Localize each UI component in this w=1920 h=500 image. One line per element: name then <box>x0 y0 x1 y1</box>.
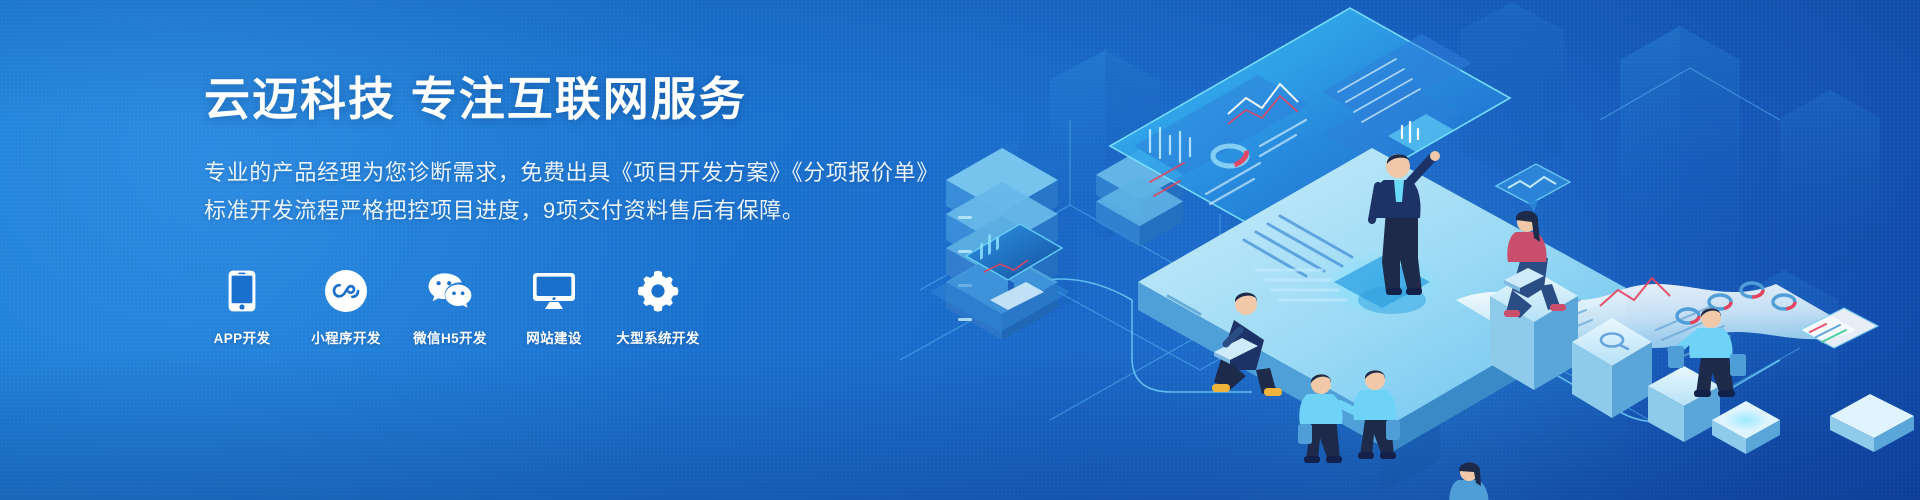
service-item-large-system[interactable]: 大型系统开发 <box>620 268 696 347</box>
mini-program-icon <box>323 268 369 314</box>
banner-subtitle: 专业的产品经理为您诊断需求，免费出具《项目开发方案》《分项报价单》 标准开发流程… <box>204 154 964 230</box>
wechat-icon <box>427 268 473 314</box>
service-label-wechat: 微信H5开发 <box>413 327 487 347</box>
service-list: APP开发 小程序开发 <box>204 268 964 347</box>
gear-icon <box>635 268 681 314</box>
subtitle-line-1: 专业的产品经理为您诊断需求，免费出具《项目开发方案》《分项报价单》 <box>204 154 964 192</box>
mobile-phone-icon <box>219 268 265 314</box>
service-item-website[interactable]: 网站建设 <box>516 268 592 347</box>
monitor-icon <box>531 268 577 314</box>
subtitle-line-2: 标准开发流程严格把控项目进度，9项交付资料售后有保障。 <box>204 192 964 230</box>
page-title: 云迈科技 专注互联网服务 <box>204 72 964 126</box>
service-item-wechat[interactable]: 微信H5开发 <box>412 268 488 347</box>
isometric-illustration <box>900 0 1920 500</box>
service-label-website: 网站建设 <box>526 327 582 347</box>
banner-content: 云迈科技 专注互联网服务 专业的产品经理为您诊断需求，免费出具《项目开发方案》《… <box>204 72 964 347</box>
service-label-app: APP开发 <box>214 327 271 347</box>
service-label-mini-program: 小程序开发 <box>311 327 381 347</box>
service-item-mini-program[interactable]: 小程序开发 <box>308 268 384 347</box>
hero-banner: 云迈科技 专注互联网服务 专业的产品经理为您诊断需求，免费出具《项目开发方案》《… <box>0 0 1920 500</box>
service-item-app[interactable]: APP开发 <box>204 268 280 347</box>
service-label-large-system: 大型系统开发 <box>616 327 699 347</box>
person-bottom-center <box>1449 463 1488 500</box>
slab-far-right <box>1830 394 1914 452</box>
